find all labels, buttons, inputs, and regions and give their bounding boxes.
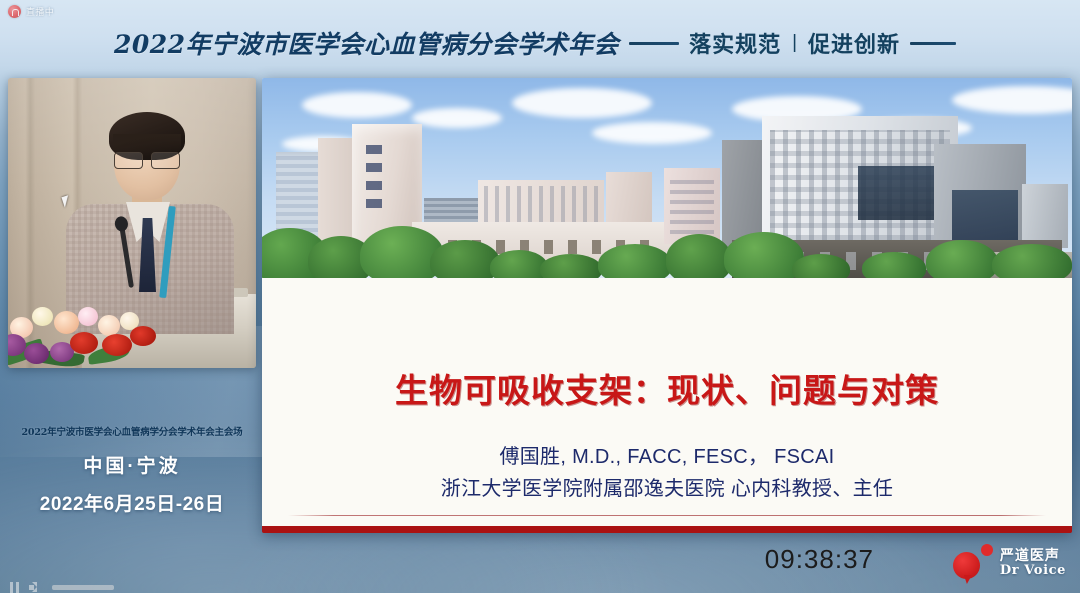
live-status-badge: 直播中 [8, 5, 54, 18]
drvoice-watermark: 严道医声 Dr Voice [953, 543, 1066, 583]
sidebar-caption-line3: 2022年6月25日-26日 [8, 489, 256, 516]
slide-logo-row: 浙江大学医学院 附属邵逸夫医院 中国医疗机构 最 佳 雇 主 MAYO CLIN… [262, 528, 1072, 533]
banner-rule-right-icon [910, 42, 956, 45]
presentation-slide[interactable]: 生物可吸收支架：现状、问题与对策 傅国胜, M.D., FACC, FESC， … [262, 78, 1072, 533]
clock-time: 09:38:37 [765, 544, 874, 575]
building-chinese-characters [366, 138, 382, 208]
volume-button[interactable] [29, 582, 42, 593]
speaker-live-video[interactable] [8, 78, 256, 368]
sidebar-caption-line2: 中国·宁波 [8, 451, 256, 478]
sidebar-caption: 2022年宁波市医学会心血管病学分会学术年会主会场 中国·宁波 2022年6月2… [8, 424, 256, 516]
banner-main-title: 2022年宁波市医学会心血管病分会学术年会 [114, 25, 619, 61]
sidebar-caption-line1: 2022年宁波市医学会心血管病学分会学术年会主会场 [8, 424, 256, 438]
banner: 2022年宁波市医学会心血管病分会学术年会 落实规范 | 促进创新 [0, 22, 1080, 64]
flower-arrangement [8, 258, 152, 368]
record-live-icon [8, 5, 21, 18]
banner-slogan-left: 落实规范 [689, 27, 781, 59]
speaker-glasses-icon [114, 152, 180, 167]
tree-line [262, 216, 1072, 278]
watermark-cn: 严道医声 [1000, 548, 1066, 564]
logo-mayo-line1: MAYO CLINIC [888, 531, 1048, 533]
logo-mayo-clinic: MAYO CLINIC CARE NETWORK Member [830, 531, 1048, 533]
watermark-en: Dr Voice [1000, 564, 1066, 579]
live-status-label: 直播中 [26, 5, 54, 18]
slide-divider [288, 515, 1046, 516]
pause-button[interactable] [10, 582, 19, 593]
drvoice-dots-icon [953, 543, 993, 583]
logo-mayo-text: MAYO CLINIC CARE NETWORK Member [888, 531, 1048, 533]
drvoice-watermark-text: 严道医声 Dr Voice [1000, 548, 1066, 578]
slide-affiliation: 浙江大学医学院附属邵逸夫医院 心内科教授、主任 [262, 472, 1072, 501]
banner-slogan-separator: | [792, 32, 797, 54]
slide-presenter: 傅国胜, M.D., FACC, FESC， FSCAI [262, 440, 1072, 469]
progress-bar[interactable] [52, 585, 114, 590]
banner-rule-left-icon [629, 42, 679, 45]
slide-title: 生物可吸收支架：现状、问题与对策 [262, 364, 1072, 412]
hospital-buildings-photo [262, 78, 1072, 278]
player-controls[interactable] [0, 581, 1080, 593]
banner-slogan-right: 促进创新 [808, 27, 900, 59]
